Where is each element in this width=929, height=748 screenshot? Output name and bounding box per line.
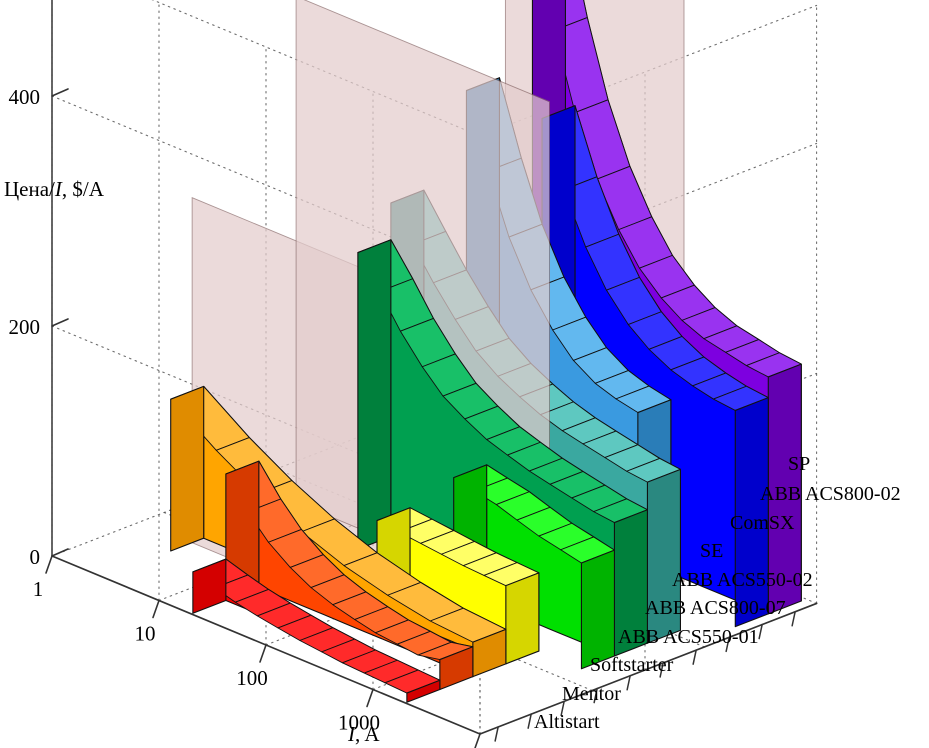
chart-3d-surface: 0200400 110100100010000 Цена/I, $/A I, A…	[0, 0, 929, 748]
legend-item-abb-acs800-07[interactable]: ABB ACS800-07	[645, 597, 786, 619]
legend-item-sp[interactable]: SP	[788, 453, 810, 475]
legend-item-comsx[interactable]: ComSX	[730, 512, 795, 534]
x-tick-label: 100	[236, 666, 268, 690]
x-axis-title: I, A	[347, 722, 380, 746]
x-tick-label: 1	[33, 577, 44, 601]
chart-container: 0200400 110100100010000 Цена/I, $/A I, A…	[0, 0, 929, 748]
legend-item-se[interactable]: SE	[700, 540, 723, 562]
y-tick-label: 0	[30, 545, 41, 569]
legend-item-softstarter[interactable]: Softstarter	[590, 654, 674, 676]
legend-item-mentor[interactable]: Mentor	[562, 683, 621, 705]
y-tick-label: 400	[9, 85, 41, 109]
legend-item-abb-acs550-02[interactable]: ABB ACS550-02	[672, 569, 813, 591]
legend-item-abb-acs800-02[interactable]: ABB ACS800-02	[760, 483, 901, 505]
legend-item-abb-acs550-01[interactable]: ABB ACS550-01	[618, 626, 759, 648]
y-tick-label: 200	[9, 315, 41, 339]
legend-item-altistart[interactable]: Altistart	[534, 711, 600, 733]
x-tick-label: 10	[135, 622, 156, 646]
y-axis-title: Цена/I, $/A	[4, 177, 105, 201]
